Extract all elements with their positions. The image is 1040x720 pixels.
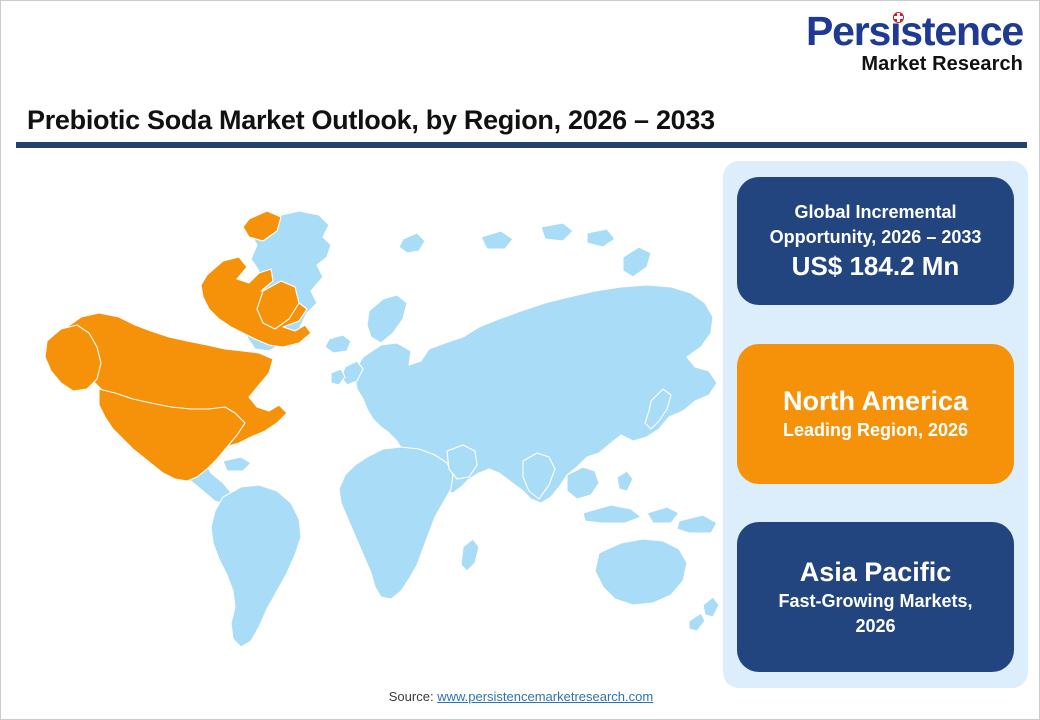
map-region-novaya-zemlya bbox=[623, 247, 651, 277]
map-region-philippines bbox=[617, 471, 633, 491]
map-region-africa bbox=[339, 447, 453, 599]
map-region-arctic-islands-3 bbox=[587, 229, 615, 247]
map-region-scandinavia bbox=[367, 295, 407, 343]
opportunity-line-2: Opportunity, 2026 – 2033 bbox=[770, 225, 982, 250]
map-region-new-guinea bbox=[677, 515, 717, 533]
map-region-indonesia-1 bbox=[583, 505, 641, 523]
company-logo: Persistence Market Research bbox=[805, 9, 1025, 81]
leading-region-card[interactable]: North America Leading Region, 2026 bbox=[737, 344, 1014, 484]
opportunity-line-1: Global Incremental bbox=[794, 200, 956, 225]
map-region-australia bbox=[595, 539, 687, 605]
global-incremental-opportunity-card[interactable]: Global Incremental Opportunity, 2026 – 2… bbox=[737, 177, 1014, 305]
map-region-indonesia-2 bbox=[647, 507, 679, 523]
map-region-madagascar bbox=[461, 539, 479, 571]
logo-brand-text: Persistence bbox=[805, 9, 1025, 53]
crosshair-dot-icon bbox=[893, 12, 904, 23]
fast-growing-caption-line-2: 2026 bbox=[855, 614, 895, 639]
page-title: Prebiotic Soda Market Outlook, by Region… bbox=[27, 105, 715, 136]
map-region-caribbean bbox=[223, 457, 251, 471]
logo-brand-label: Persistence bbox=[806, 8, 1023, 54]
title-divider bbox=[16, 142, 1027, 148]
fast-growing-heading: Asia Pacific bbox=[800, 555, 952, 589]
logo-tagline: Market Research bbox=[805, 53, 1025, 75]
map-region-arctic-islands-1 bbox=[481, 231, 513, 249]
map-region-new-zealand bbox=[703, 597, 719, 617]
source-link[interactable]: www.persistencemarketresearch.com bbox=[437, 689, 653, 704]
fast-growing-markets-card[interactable]: Asia Pacific Fast-Growing Markets, 2026 bbox=[737, 522, 1014, 672]
map-region-svalbard bbox=[399, 233, 425, 253]
leading-region-heading: North America bbox=[783, 384, 968, 418]
map-region-arctic-islands-2 bbox=[541, 223, 573, 241]
map-region-south-america bbox=[211, 485, 301, 647]
fast-growing-caption-line-1: Fast-Growing Markets, bbox=[778, 589, 972, 614]
source-footer: Source: www.persistencemarketresearch.co… bbox=[1, 689, 1040, 704]
world-map bbox=[11, 161, 721, 671]
map-region-new-zealand-south bbox=[689, 613, 705, 631]
opportunity-value: US$ 184.2 Mn bbox=[792, 250, 960, 283]
leading-region-caption: Leading Region, 2026 bbox=[783, 418, 968, 443]
world-map-svg bbox=[11, 161, 721, 671]
map-region-iceland bbox=[325, 335, 351, 353]
infographic-canvas: Persistence Market Research Prebiotic So… bbox=[0, 0, 1040, 720]
kpi-panel: Global Incremental Opportunity, 2026 – 2… bbox=[723, 161, 1028, 688]
source-label: Source: bbox=[389, 689, 437, 704]
